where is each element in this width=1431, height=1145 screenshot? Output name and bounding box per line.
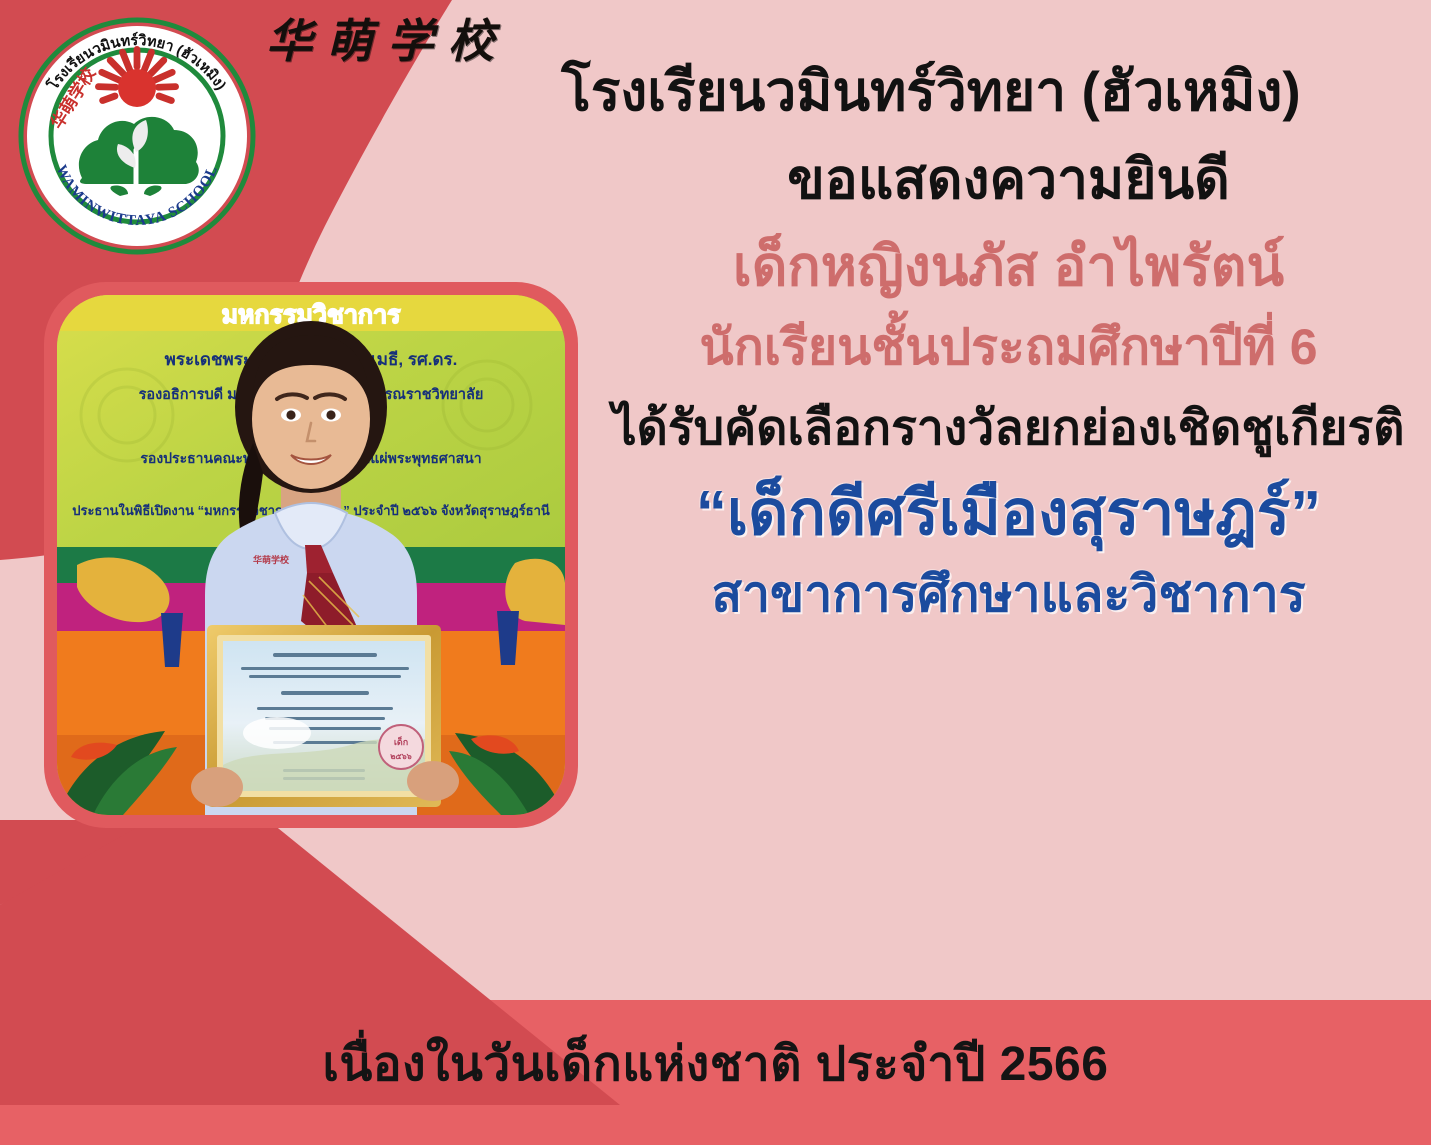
student-grade-line: นักเรียนชั้นประถมศึกษาปีที่ 6 (586, 321, 1431, 374)
photo-girl-hand-left (191, 767, 243, 807)
student-photo-illustration: มหกรรมวิชาการ พระเดชพระคุณ พระเทพปวรเมธี… (57, 295, 565, 815)
chinese-char-4: 校 (448, 18, 496, 64)
award-title-line: “เด็กดีศรีเมืองสุราษฎร์” (586, 481, 1431, 547)
photo-girl-hand-right (407, 761, 459, 801)
photo-certificate-cloud (243, 717, 311, 749)
student-photo: มหกรรมวิชาการ พระเดชพระคุณ พระเทพปวรเมธี… (57, 295, 565, 815)
award-intro-line: ได้รับคัดเลือกรางวัลยกย่องเชิดชูเกียรติ (586, 404, 1431, 455)
award-category-line: สาขาการศึกษาและวิชาการ (586, 568, 1431, 621)
student-name-line: เด็กหญิงนภัส อำไพรัตน์ (586, 237, 1431, 295)
congratulation-line: ขอแสดงความยินดี (586, 150, 1431, 208)
photo-certificate-seal-text: เด็ก (394, 735, 408, 747)
photo-girl-pupil-left (286, 410, 295, 419)
congratulations-poster: โรงเรียนวมินทร์วิทยา (ฮัวเหมิง) WAMINWIT… (0, 0, 1431, 1145)
photo-certificate-seal-year: ๒๕๖๖ (390, 752, 411, 761)
crest-sun-icon (118, 69, 156, 107)
footer-occasion-line: เนื่องในวันเด็กแห่งชาติ ประจำปี 2566 (0, 1026, 1431, 1102)
photo-girl-name-badge: 华萌学校 (253, 554, 290, 566)
photo-girl-pupil-right (326, 410, 335, 419)
chinese-char-3: 学 (387, 18, 435, 64)
chinese-char-1: 华 (266, 18, 314, 64)
photo-certificate-seal (379, 725, 423, 769)
school-name-line: โรงเรียนวมินทร์วิทยา (ฮัวเหมิง) (431, 62, 1431, 120)
school-logo: โรงเรียนวมินทร์วิทยา (ฮัวเหมิง) WAMINWIT… (16, 12, 258, 258)
school-crest-icon: โรงเรียนวมินทร์วิทยา (ฮัวเหมิง) WAMINWIT… (16, 12, 258, 258)
student-photo-frame: มหกรรมวิชาการ พระเดชพระคุณ พระเทพปวรเมธี… (44, 282, 578, 828)
chinese-char-2: 萌 (327, 18, 375, 64)
poster-text-column: โรงเรียนวมินทร์วิทยา (ฮัวเหมิง) ขอแสดงคว… (586, 62, 1431, 621)
